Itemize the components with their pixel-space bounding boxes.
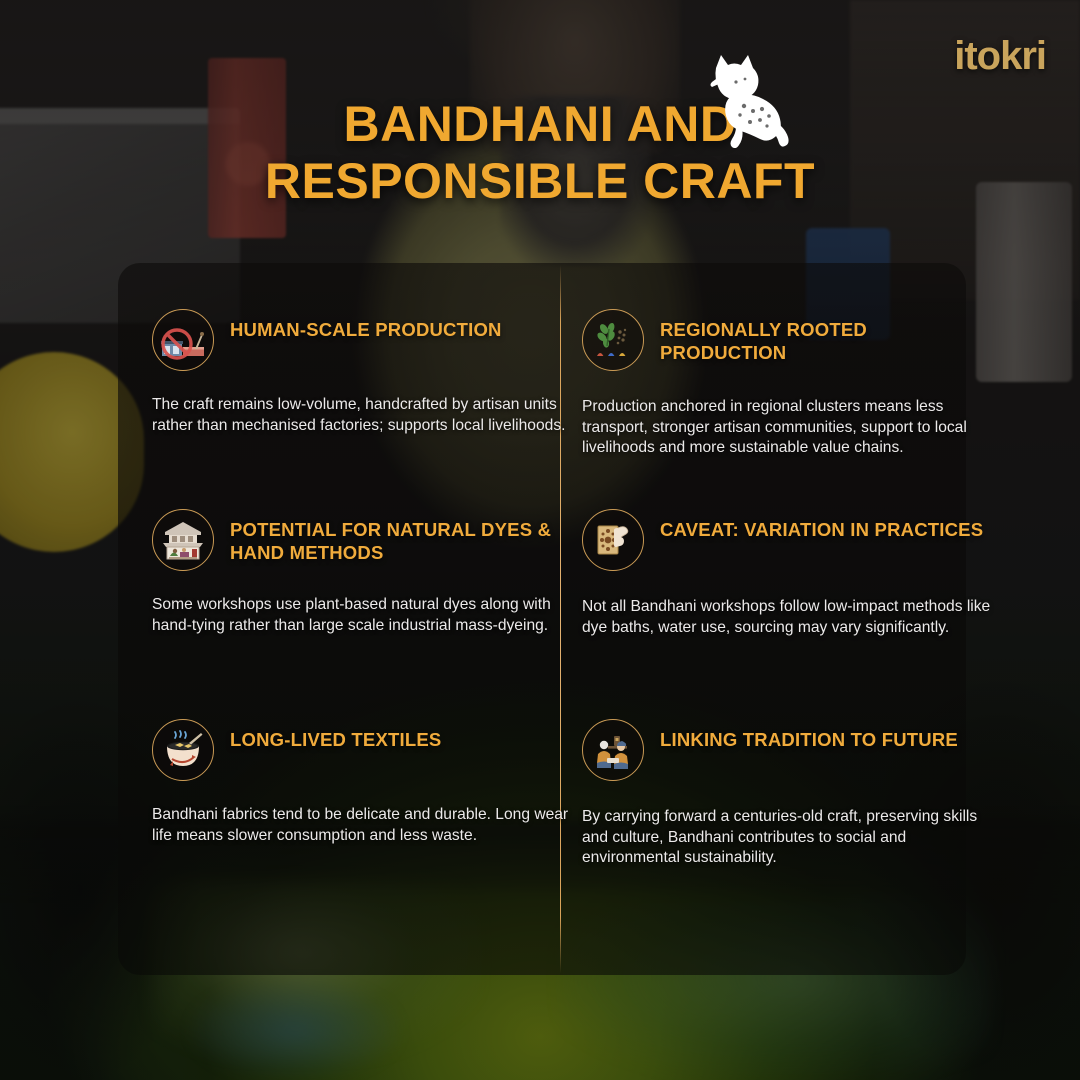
benefit-title: REGIONALLY ROOTED PRODUCTION <box>660 309 996 364</box>
benefit-title: HUMAN-SCALE PRODUCTION <box>230 309 502 342</box>
natural-dye-leaves-icon <box>582 309 644 371</box>
steaming-dye-pot-icon <box>152 719 214 781</box>
benefit-block: POTENTIAL FOR NATURAL DYES & HAND METHOD… <box>152 509 572 636</box>
benefit-header: HUMAN-SCALE PRODUCTION <box>152 309 572 371</box>
benefit-block: HUMAN-SCALE PRODUCTION The craft remains… <box>152 309 572 436</box>
brand-logo: itokri <box>954 36 1046 76</box>
page-title: BANDHANI AND RESPONSIBLE CRAFT <box>0 96 1080 210</box>
benefit-header: LONG-LIVED TEXTILES <box>152 719 572 781</box>
benefit-header: REGIONALLY ROOTED PRODUCTION <box>582 309 996 371</box>
benefit-body: Production anchored in regional clusters… <box>582 397 996 459</box>
benefit-header: LINKING TRADITION TO FUTURE <box>582 719 996 781</box>
benefit-title: LINKING TRADITION TO FUTURE <box>660 719 958 752</box>
hand-holding-block-print-icon <box>582 509 644 571</box>
benefit-block: REGIONALLY ROOTED PRODUCTION Production … <box>582 309 996 459</box>
two-artisans-icon <box>582 719 644 781</box>
benefit-body: The craft remains low-volume, handcrafte… <box>152 395 572 436</box>
page-title-line-1: BANDHANI AND <box>0 96 1080 153</box>
benefit-title: LONG-LIVED TEXTILES <box>230 719 441 752</box>
benefits-grid: HUMAN-SCALE PRODUCTION The craft remains… <box>118 263 966 975</box>
benefit-block: CAVEAT: VARIATION IN PRACTICES Not all B… <box>582 509 996 638</box>
page-title-line-2: RESPONSIBLE CRAFT <box>0 153 1080 210</box>
benefit-block: LINKING TRADITION TO FUTURE By carrying … <box>582 719 996 869</box>
benefit-body: Some workshops use plant-based natural d… <box>152 595 572 636</box>
benefit-title: CAVEAT: VARIATION IN PRACTICES <box>660 509 983 542</box>
benefit-body: By carrying forward a centuries-old craf… <box>582 807 996 869</box>
artisan-workshop-icon <box>152 509 214 571</box>
benefit-body: Bandhani fabrics tend to be delicate and… <box>152 805 572 846</box>
benefit-block: LONG-LIVED TEXTILES Bandhani fabrics ten… <box>152 719 572 846</box>
benefit-title: POTENTIAL FOR NATURAL DYES & HAND METHOD… <box>230 509 572 564</box>
benefit-body: Not all Bandhani workshops follow low-im… <box>582 597 996 638</box>
benefit-header: CAVEAT: VARIATION IN PRACTICES <box>582 509 996 571</box>
no-factory-icon <box>152 309 214 371</box>
benefit-header: POTENTIAL FOR NATURAL DYES & HAND METHOD… <box>152 509 572 571</box>
